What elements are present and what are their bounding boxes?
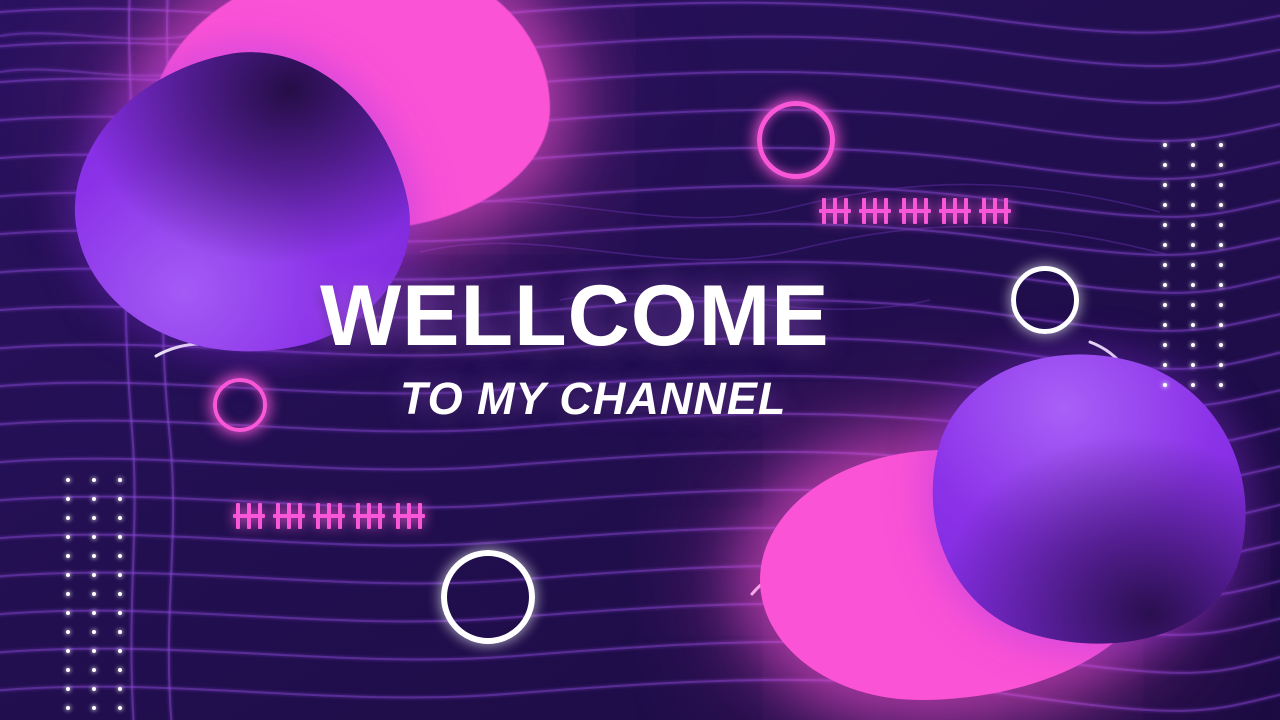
tally-group (982, 198, 1008, 224)
grid-dot (1163, 143, 1167, 147)
grid-dot (1163, 303, 1167, 307)
grid-dot (66, 649, 70, 653)
dot-grid-right (1163, 143, 1223, 387)
grid-dot (66, 535, 70, 539)
grid-dot (118, 535, 122, 539)
grid-dot (92, 611, 96, 615)
tally-group (942, 198, 968, 224)
grid-dot (118, 649, 122, 653)
grid-dot (1191, 183, 1195, 187)
grid-dot (118, 497, 122, 501)
grid-dot (1191, 283, 1195, 287)
grid-dot (1219, 163, 1223, 167)
grid-dot (1163, 363, 1167, 367)
grid-dot (92, 687, 96, 691)
grid-dot (1163, 203, 1167, 207)
white-circle-outline-right (1011, 266, 1079, 334)
grid-dot (118, 668, 122, 672)
grid-dot (66, 516, 70, 520)
grid-dot (92, 630, 96, 634)
grid-dot (1163, 383, 1167, 387)
tally-group (316, 503, 342, 529)
grid-dot (92, 478, 96, 482)
grid-dot (66, 687, 70, 691)
grid-dot (1191, 323, 1195, 327)
grid-dot (66, 478, 70, 482)
grid-dot (118, 687, 122, 691)
grid-dot (1163, 263, 1167, 267)
page-title: WELLCOME (320, 276, 1000, 358)
white-circle-outline-bottom (441, 550, 535, 644)
grid-dot (1163, 323, 1167, 327)
tally-group (236, 503, 262, 529)
tally-marks-top (822, 198, 1008, 224)
grid-dot (92, 516, 96, 520)
grid-dot (118, 573, 122, 577)
grid-dot (66, 630, 70, 634)
grid-dot (92, 649, 96, 653)
grid-dot (1219, 363, 1223, 367)
grid-dot (1219, 183, 1223, 187)
grid-dot (118, 516, 122, 520)
pink-circle-outline-top (757, 101, 835, 179)
grid-dot (92, 592, 96, 596)
grid-dot (1191, 303, 1195, 307)
grid-dot (1219, 223, 1223, 227)
grid-dot (1163, 283, 1167, 287)
grid-dot (92, 573, 96, 577)
grid-dot (92, 497, 96, 501)
tally-group (862, 198, 888, 224)
dot-grid-left (66, 478, 122, 710)
grid-dot (1219, 143, 1223, 147)
tally-group (396, 503, 422, 529)
grid-dot (92, 668, 96, 672)
grid-dot (66, 592, 70, 596)
tally-group (902, 198, 928, 224)
grid-dot (1219, 303, 1223, 307)
grid-dot (1219, 243, 1223, 247)
grid-dot (118, 611, 122, 615)
headline-block: WELLCOME TO MY CHANNEL (320, 276, 1000, 421)
grid-dot (1163, 223, 1167, 227)
grid-dot (66, 497, 70, 501)
tally-group (276, 503, 302, 529)
grid-dot (118, 592, 122, 596)
grid-dot (66, 668, 70, 672)
grid-dot (1191, 263, 1195, 267)
grid-dot (1191, 143, 1195, 147)
tally-marks-bottom (236, 503, 422, 529)
grid-dot (1219, 283, 1223, 287)
grid-dot (1163, 343, 1167, 347)
grid-dot (66, 573, 70, 577)
grid-dot (1191, 383, 1195, 387)
grid-dot (118, 630, 122, 634)
grid-dot (92, 706, 96, 710)
grid-dot (1219, 263, 1223, 267)
grid-dot (1191, 203, 1195, 207)
grid-dot (92, 535, 96, 539)
grid-dot (1191, 223, 1195, 227)
grid-dot (66, 611, 70, 615)
grid-dot (118, 554, 122, 558)
tally-group (356, 503, 382, 529)
grid-dot (1191, 163, 1195, 167)
grid-dot (1191, 343, 1195, 347)
grid-dot (1219, 203, 1223, 207)
page-subtitle: TO MY CHANNEL (400, 376, 1000, 421)
grid-dot (1191, 363, 1195, 367)
grid-dot (118, 478, 122, 482)
welcome-banner: WELLCOME TO MY CHANNEL (0, 0, 1280, 720)
grid-dot (1163, 243, 1167, 247)
grid-dot (1219, 343, 1223, 347)
grid-dot (92, 554, 96, 558)
grid-dot (1163, 163, 1167, 167)
pink-circle-outline-left (213, 378, 267, 432)
tally-group (822, 198, 848, 224)
grid-dot (118, 706, 122, 710)
grid-dot (66, 554, 70, 558)
grid-dot (1163, 183, 1167, 187)
grid-dot (1219, 383, 1223, 387)
grid-dot (66, 706, 70, 710)
grid-dot (1191, 243, 1195, 247)
grid-dot (1219, 323, 1223, 327)
